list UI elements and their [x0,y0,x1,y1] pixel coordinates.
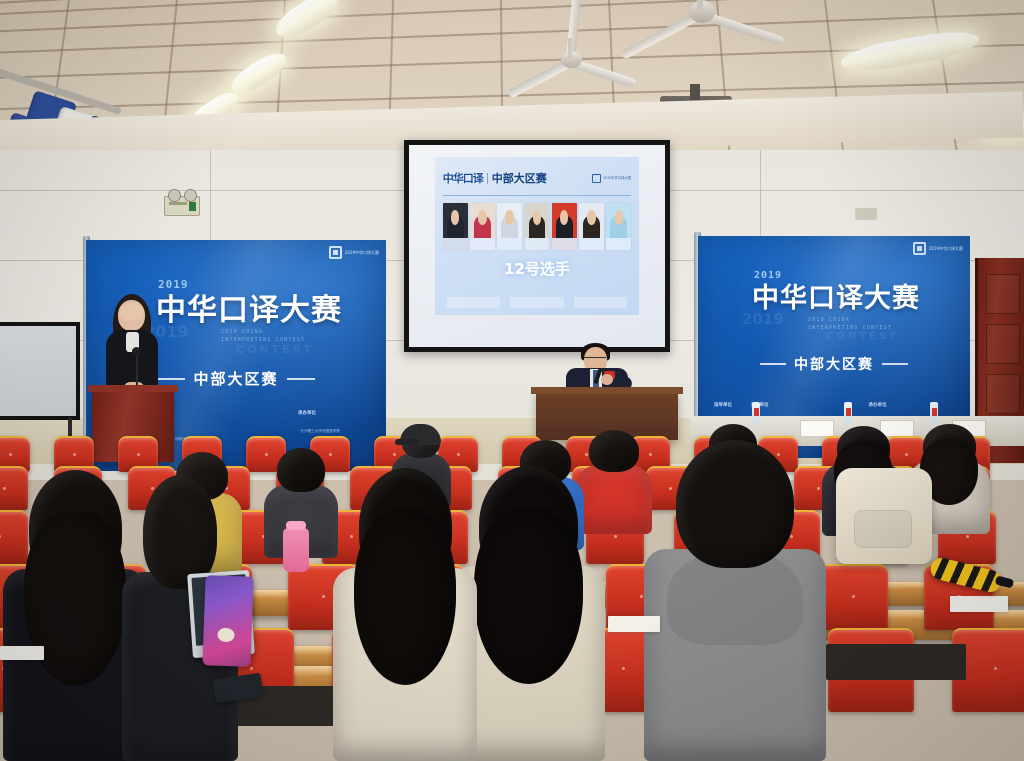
banner-ghost-right: 2019 [742,310,784,328]
slide-portrait [606,203,631,250]
slide-portrait-row [443,203,631,250]
emergency-light-icon [164,196,200,216]
banner-logo-mark-icon [329,246,342,259]
fluorescent-light [839,26,981,76]
slide-caption: 12号选手 [435,258,640,279]
person-head [676,440,794,568]
banner-title-left: 中华口译大赛 [156,285,342,329]
banner-subtitle-en-1: 2019 CHINA [221,328,263,336]
audience-seating [0,414,1024,761]
banner-subtitle-en-1: 2019 CHINA [808,316,850,324]
whiteboard [0,322,80,420]
credit-label: 主办单位 [750,402,831,408]
student-front-center [330,468,480,761]
glasses-icon [584,357,606,361]
notebook-paper [950,596,1008,612]
credit-label: 承办单位 [869,402,911,408]
banner-region-right: 中部大区赛 [698,354,970,374]
slide-portrait [470,203,495,250]
banner-logo-mark-icon [913,242,926,255]
credit-label: 指导单位 [714,402,741,408]
speaker-hand [601,374,613,385]
slide-footer [447,297,627,308]
lecture-hall-photo: 中华口译 中部大区赛 2019中华口译大赛 12号选手 [0,0,1024,761]
long-hair [354,509,456,685]
cream-backpack [836,468,932,564]
slide-portrait [525,203,550,250]
slide-portrait [552,203,577,250]
long-hair [474,507,583,684]
microphone-icon [132,347,141,356]
slide-sponsor-logo-icon [592,174,601,183]
ceiling-tile-line [932,0,961,173]
pencil-case [202,575,253,667]
fluorescent-light [227,47,291,99]
notebook-paper [608,616,660,632]
banner-title-right: 中华口译大赛 [752,276,920,315]
slide-sponsor-logo-label: 2019中华口译大赛 [603,176,631,180]
banner-year-left: 2019 [158,278,189,291]
banner-logo-left: 2019中华口译大赛 [329,246,379,259]
banner-subtitle-en-2: INTERPRETING CONTEST [808,324,892,332]
smoke-detector-icon [855,208,877,220]
person-head [277,448,325,492]
ceiling-projector [690,84,700,100]
banner-ghost-contest-left: CONTEST [236,343,314,356]
banner-ghost-contest-right: CONTEST [826,331,899,342]
slide-portrait [497,203,522,250]
slide-divider [487,173,488,184]
slide-content: 中华口译 中部大区赛 2019中华口译大赛 12号选手 [435,157,640,315]
slide-portrait [579,203,604,250]
desk-side-panel [826,644,966,680]
pink-water-bottle [283,528,309,572]
banner-logo-right: 2019中华口译大赛 [913,242,963,255]
banner-subtitle-en-2: INTERPRETING CONTEST [221,336,305,344]
banner-logo-label: 2019中华口译大赛 [345,250,379,255]
slide-region-title: 中部大区赛 [492,170,547,186]
slide-portrait [443,203,468,250]
banner-logo-label: 2019中华口译大赛 [929,246,963,251]
host-fringe [120,303,143,320]
student-front-right-hoodie [640,440,830,761]
slide-logo-text: 中华口译 [443,170,483,186]
slide-header: 中华口译 中部大区赛 2019中华口译大赛 [443,165,631,192]
notebook-paper [0,646,44,660]
banner-year-right: 2019 [754,270,782,281]
slide-rule [443,195,631,196]
projection-screen: 中华口译 中部大区赛 2019中华口译大赛 12号选手 [404,140,670,352]
